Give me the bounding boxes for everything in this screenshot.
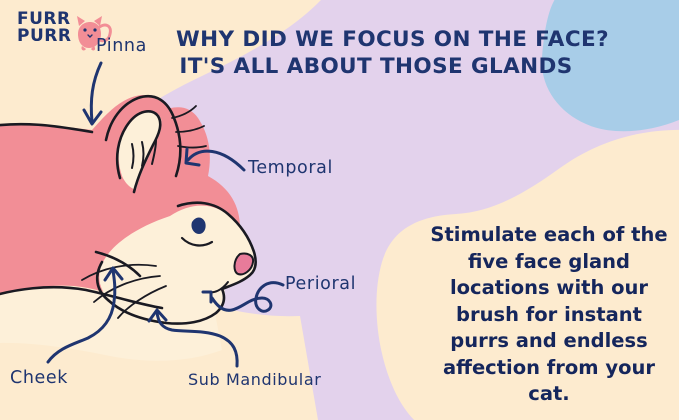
page-title: WHY DID WE FOCUS ON THE FACE? IT'S ALL A…	[176, 26, 576, 80]
gland-label-cheek: Cheek	[10, 368, 68, 388]
headline-line-1: WHY DID WE FOCUS ON THE FACE?	[176, 26, 576, 53]
brand-logo-text: FURR PURR	[17, 11, 71, 45]
connector-perioral	[212, 283, 283, 312]
gland-label-perioral: Perioral	[285, 274, 356, 294]
connector-perioral-arrowhead	[203, 292, 211, 302]
gland-label-pinna: Pinna	[96, 36, 147, 56]
body-copy-text: Stimulate each of the five face gland lo…	[424, 222, 674, 408]
headline-line-2: IT'S ALL ABOUT THOSE GLANDS	[176, 53, 576, 80]
gland-label-sub-mandibular: Sub Mandibular	[188, 370, 321, 389]
connector-cheek	[48, 270, 115, 362]
infographic-poster: FURR PURR WHY DID WE FOCUS ON THE FA	[0, 0, 679, 420]
gland-label-temporal: Temporal	[248, 158, 333, 178]
connector-submandibular	[157, 312, 237, 366]
connector-temporal	[188, 151, 244, 170]
